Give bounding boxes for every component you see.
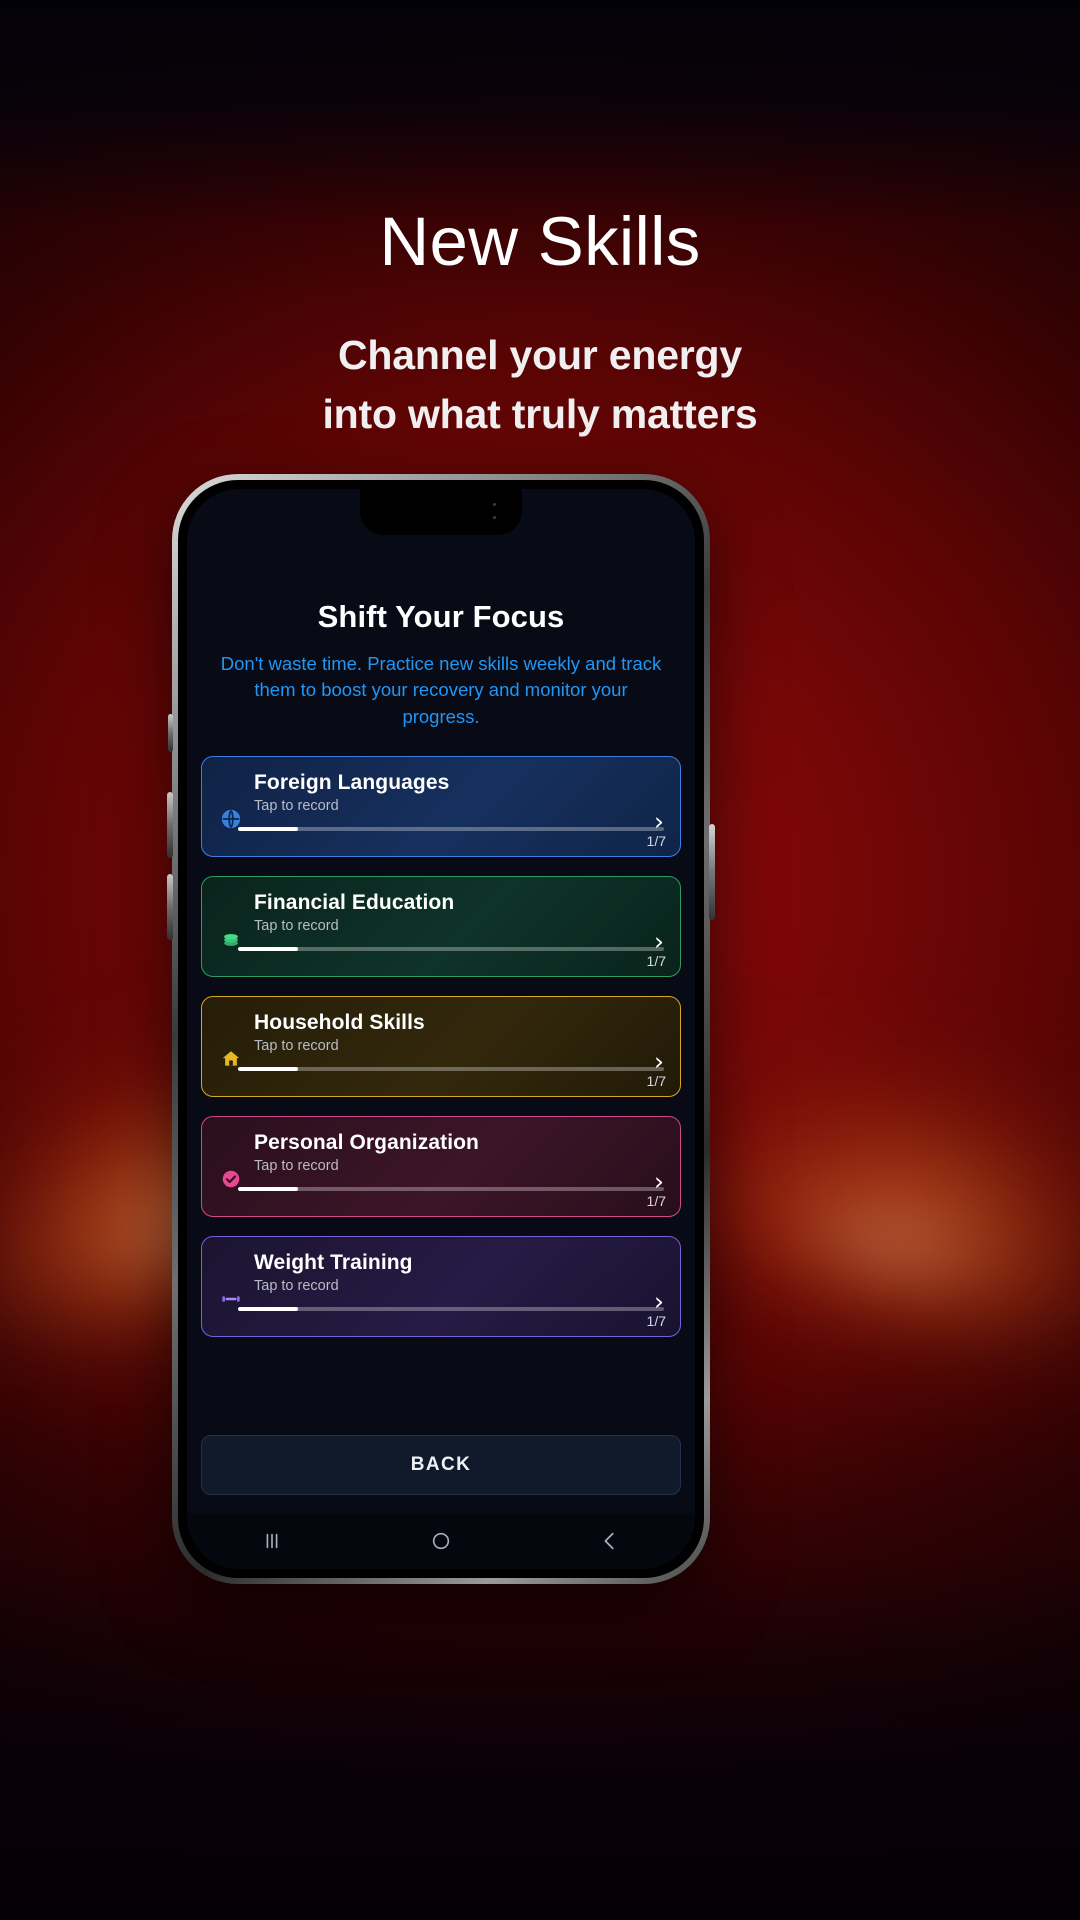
skill-card-title: Foreign Languages (254, 771, 664, 795)
skill-card-title: Household Skills (254, 1011, 664, 1035)
skill-progress-count: 1/7 (647, 833, 666, 849)
recents-icon[interactable] (242, 1521, 302, 1561)
page-title: New Skills (0, 206, 1080, 278)
power-button[interactable] (709, 824, 715, 920)
progress-track (238, 947, 664, 951)
skill-card-subtitle: Tap to record (254, 918, 664, 934)
skill-progress-row (218, 1067, 664, 1071)
silent-switch[interactable] (168, 714, 173, 752)
skill-progress-count: 1/7 (647, 1313, 666, 1329)
skill-card-weight-training[interactable]: Weight Training Tap to record › (201, 1236, 681, 1337)
skill-card-subtitle: Tap to record (254, 1158, 664, 1174)
skill-progress-row (218, 947, 664, 951)
progress-track (238, 1067, 664, 1071)
skill-progress-row (218, 827, 664, 831)
android-navigation-bar (187, 1513, 695, 1569)
volume-down-button[interactable] (167, 874, 173, 940)
skill-card-subtitle: Tap to record (254, 798, 664, 814)
progress-fill (238, 1187, 298, 1191)
progress-fill (238, 1067, 298, 1071)
skill-card-foreign-languages[interactable]: Foreign Languages Tap to record › (201, 756, 681, 857)
skill-card-subtitle: Tap to record (254, 1038, 664, 1054)
skill-card-list: Foreign Languages Tap to record › (201, 756, 681, 1337)
hero-subtitle-line-1: Channel your energy (0, 326, 1080, 385)
footer-area: BACK (201, 1435, 681, 1569)
back-button[interactable]: BACK (201, 1435, 681, 1495)
hero-subtitle-line-2: into what truly matters (0, 385, 1080, 444)
skill-progress-row (218, 1307, 664, 1311)
progress-fill (238, 947, 298, 951)
phone-notch (360, 489, 522, 535)
skill-card-personal-organization[interactable]: Personal Organization Tap to record › (201, 1116, 681, 1217)
app-content: Shift Your Focus Don't waste time. Pract… (187, 489, 695, 1569)
app-screen-title: Shift Your Focus (201, 599, 681, 635)
progress-track (238, 1307, 664, 1311)
volume-up-button[interactable] (167, 792, 173, 858)
hero-section: New Skills Channel your energy into what… (0, 206, 1080, 445)
progress-fill (238, 827, 298, 831)
skill-progress-count: 1/7 (647, 1193, 666, 1209)
progress-fill (238, 1307, 298, 1311)
phone-screen: Shift Your Focus Don't waste time. Pract… (187, 489, 695, 1569)
back-chevron-icon[interactable] (580, 1521, 640, 1561)
skill-card-title: Financial Education (254, 891, 664, 915)
home-circle-icon[interactable] (411, 1521, 471, 1561)
hero-subtitle: Channel your energy into what truly matt… (0, 326, 1080, 444)
skill-card-household-skills[interactable]: Household Skills Tap to record › (201, 996, 681, 1097)
skill-progress-count: 1/7 (647, 1073, 666, 1089)
app-screen-description: Don't waste time. Practice new skills we… (201, 651, 681, 730)
progress-track (238, 1187, 664, 1191)
skill-card-financial-education[interactable]: Financial Education Tap to record › (201, 876, 681, 977)
skill-card-title: Weight Training (254, 1251, 664, 1275)
camera-sensor-icon (492, 503, 496, 519)
skill-progress-row (218, 1187, 664, 1191)
phone-bezel: Shift Your Focus Don't waste time. Pract… (178, 480, 704, 1578)
progress-track (238, 827, 664, 831)
phone-mockup: Shift Your Focus Don't waste time. Pract… (172, 474, 710, 1584)
skill-progress-count: 1/7 (647, 953, 666, 969)
skill-card-subtitle: Tap to record (254, 1278, 664, 1294)
skill-card-title: Personal Organization (254, 1131, 664, 1155)
